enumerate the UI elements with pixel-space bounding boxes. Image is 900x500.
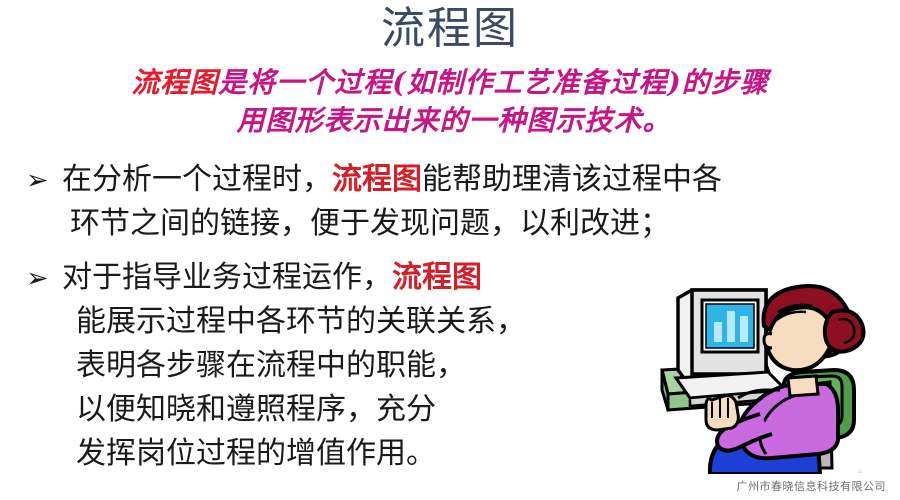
hand-shape (706, 396, 738, 430)
computer-monitor (678, 290, 766, 382)
definition-line-1-rest: 是将一个过程(如制作工艺准备过程)的步骤 (218, 66, 769, 99)
definition-line-1: 流程图是将一个过程(如制作工艺准备过程)的步骤 (0, 64, 900, 102)
page-marker: ▫ (858, 466, 862, 478)
definition-line-2: 用图形表示出来的一种图示技术。 (0, 102, 900, 140)
woman-at-computer-illustration (648, 278, 898, 474)
bullet-1-highlight-term: 流程图 (332, 162, 422, 197)
bullet-item-1-line-2: 环节之间的链接，便于发现问题，以利改进； (62, 202, 888, 246)
bullet-2-highlight-term: 流程图 (392, 260, 482, 295)
bullet-item-1-lines: 在分析一个过程时，流程图能帮助理清该过程中各 环节之间的链接，便于发现问题，以利… (62, 158, 888, 246)
page-title: 流程图 (0, 2, 900, 56)
slide-canvas: 流程图 流程图是将一个过程(如制作工艺准备过程)的步骤 用图形表示出来的一种图示… (0, 0, 900, 500)
bullet-1-line1-post: 能帮助理清该过程中各 (422, 163, 722, 196)
bullet-arrow-icon: ➢ (26, 158, 60, 202)
definition-highlight-term: 流程图 (131, 66, 218, 99)
bullet-2-line1-pre: 对于指导业务过程运作， (62, 261, 392, 294)
bullet-1-line1-pre: 在分析一个过程时， (62, 163, 332, 196)
footer-watermark: 广州市春晓信息科技有限公司 (737, 480, 887, 494)
definition-paragraph: 流程图是将一个过程(如制作工艺准备过程)的步骤 用图形表示出来的一种图示技术。 (0, 64, 900, 140)
bullet-arrow-icon-2: ➢ (26, 256, 60, 300)
hair-bun-shape (825, 311, 864, 352)
bullet-item-1-line-1: 在分析一个过程时，流程图能帮助理清该过程中各 (62, 158, 888, 202)
bullet-item-1: ➢ 在分析一个过程时，流程图能帮助理清该过程中各 环节之间的链接，便于发现问题，… (26, 158, 888, 246)
